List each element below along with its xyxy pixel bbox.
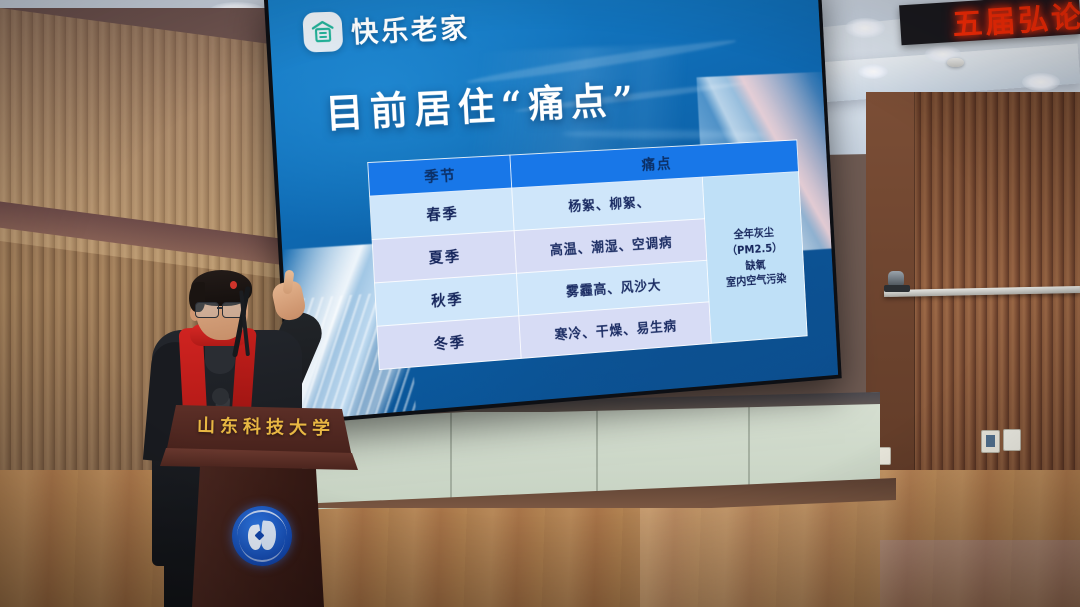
brand-logo: 快乐老家: [302, 7, 470, 52]
smoke-detector-icon: [947, 58, 964, 67]
ceiling-downlight: [845, 18, 885, 38]
podium-institution-name: 山东科技大学: [186, 411, 347, 440]
house-glyph-icon: [309, 19, 336, 46]
ceiling-downlight: [1022, 73, 1060, 91]
slide-surface: 快乐老家 目前居住“痛点” 季节 痛点 春季 杨絮、柳絮、: [268, 0, 838, 421]
pain-points-table: 季节 痛点 春季 杨絮、柳絮、 全年灰尘 （PM2.5） 缺氧 室内空气污染: [367, 139, 807, 370]
brand-name: 快乐老家: [350, 7, 471, 51]
stage-floor-reflection: [880, 540, 1080, 607]
university-emblem-icon: [232, 506, 292, 566]
microphone-head: [212, 388, 229, 405]
mic-indicator-light: [230, 281, 237, 289]
lecture-hall-photo: 五届弘论: [0, 0, 1080, 607]
wall-switch-plate: [1003, 429, 1021, 451]
wall-outlet: [981, 430, 1000, 453]
led-presentation-screen: 快乐老家 目前居住“痛点” 季节 痛点 春季 杨絮、柳絮、: [264, 0, 842, 425]
cell-season: 冬季: [377, 316, 521, 370]
house-logo-icon: [302, 11, 343, 52]
cell-year-round-merged: 全年灰尘 （PM2.5） 缺氧 室内空气污染: [702, 172, 807, 344]
ptz-camera-icon: [886, 271, 910, 293]
ceiling-downlight: [858, 64, 888, 79]
